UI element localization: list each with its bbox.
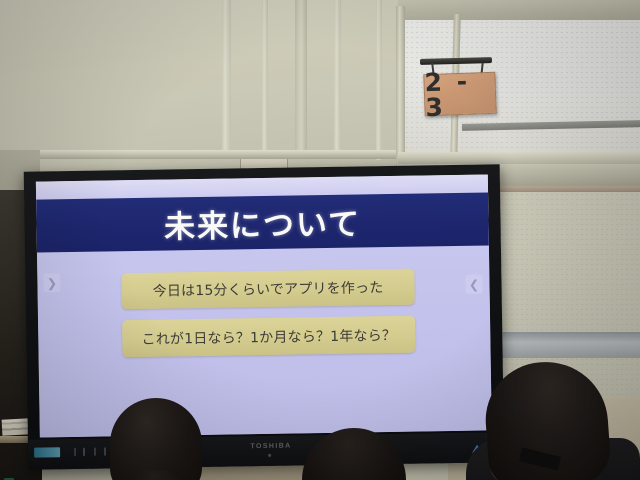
slide-bullet-text: これが1日なら？1か月なら？1年なら？: [141, 324, 396, 348]
slide-title-bar: 未来について: [36, 192, 489, 252]
wall-pillar: [262, 0, 268, 152]
display-sticker: [34, 447, 60, 457]
wall-pillar: [334, 0, 341, 158]
wall-pillar: [222, 0, 231, 152]
display-power-indicator: [268, 454, 271, 457]
slide-bullet-text: 今日は15分くらいでアプリを作った: [153, 277, 384, 301]
student-left-head: [110, 398, 202, 480]
presentation-slide: 未来について 今日は15分くらいでアプリを作った これが1日なら？1か月なら？1…: [36, 174, 492, 437]
display-screen[interactable]: 未来について 今日は15分くらいでアプリを作った これが1日なら？1か月なら？1…: [36, 174, 492, 437]
slide-bullet-box: 今日は15分くらいでアプリを作った: [121, 269, 415, 310]
wall-pillar: [295, 0, 307, 152]
transom-frame-top: [398, 0, 640, 20]
toshiba-display[interactable]: 未来について 今日は15分くらいでアプリを作った これが1日なら？1か月なら？1…: [24, 164, 505, 469]
slide-prev-arrow-icon[interactable]: ❮: [465, 275, 482, 294]
window-mullion: [396, 6, 405, 166]
classroom-number-text: 2 - 3: [424, 68, 496, 120]
slide-bullet-box: これが1日なら？1か月なら？1年なら？: [122, 316, 416, 358]
classroom-photo-scene: 2 - 3 未来について 今日は15分くらいでアプリを作った: [0, 0, 640, 480]
classroom-number-sign: 2 - 3: [423, 72, 496, 116]
wall-trim: [0, 150, 400, 159]
wall-pillar: [376, 0, 382, 160]
toshiba-logo: TOSHIBA: [236, 442, 306, 450]
stacked-books: [2, 418, 31, 435]
slide-title: 未来について: [164, 198, 362, 246]
slide-next-arrow-icon[interactable]: ❯: [43, 273, 60, 292]
